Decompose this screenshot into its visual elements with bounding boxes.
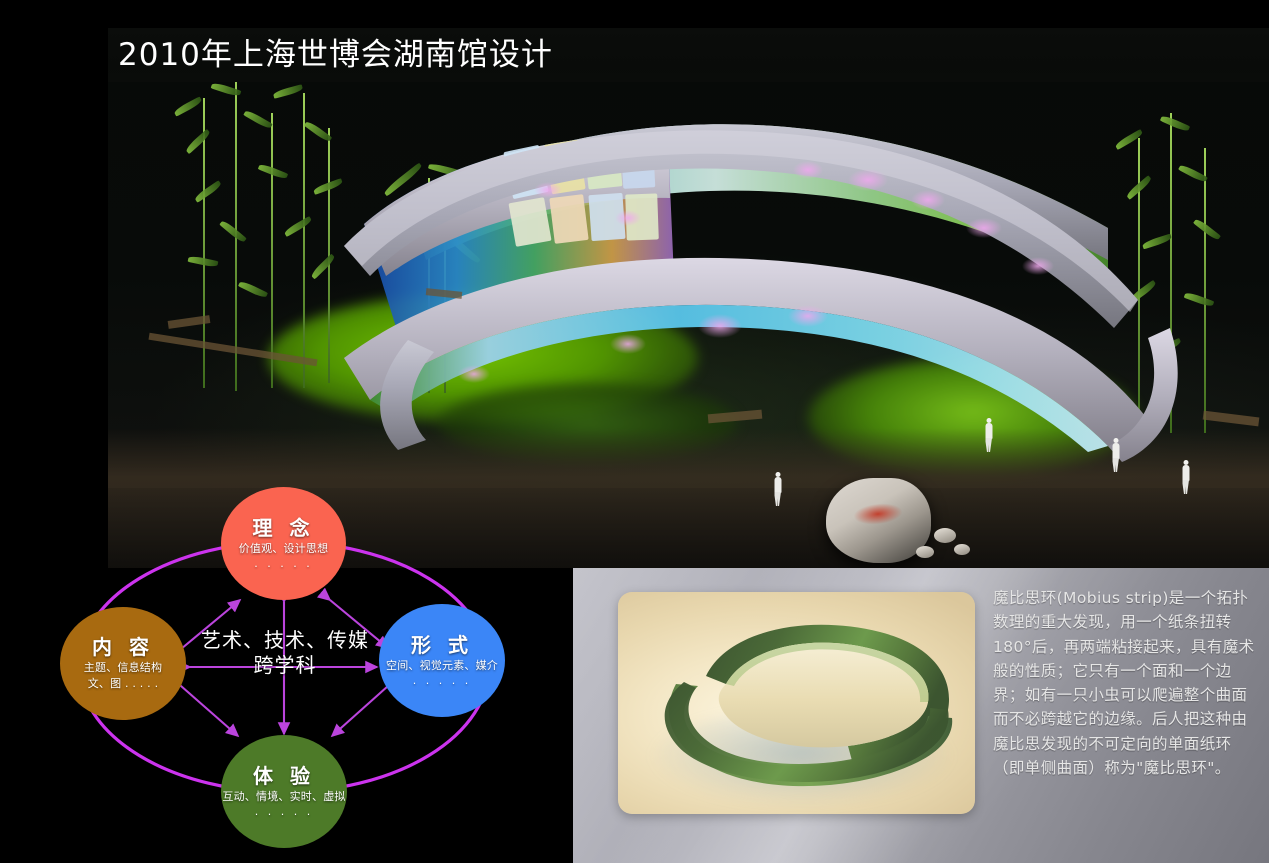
stone-red-calligraphy [853, 502, 903, 527]
node-dots: . . . . . [413, 674, 471, 687]
center-line-1: 艺术、技术、传媒 [188, 628, 382, 653]
node-subtitle-2: 文、图 . . . . . [88, 676, 159, 691]
person-silhouette-3 [1181, 460, 1190, 496]
node-dots: . . . . . [254, 557, 312, 570]
diagram-node-content[interactable]: 内 容 主题、信息结构 文、图 . . . . . [60, 607, 186, 720]
arrow-form-experience [332, 686, 388, 736]
node-subtitle: 价值观、设计思想 [239, 541, 329, 556]
slide-canvas: 2010年上海世博会湖南馆设计 [0, 0, 1269, 863]
slide-title-bar: 2010年上海世博会湖南馆设计 [108, 28, 1269, 82]
node-dots: . . . . . [255, 805, 313, 818]
person-silhouette-2 [1111, 438, 1120, 474]
diagram-node-concept[interactable]: 理 念 价值观、设计思想 . . . . . [221, 487, 346, 600]
node-subtitle: 主题、信息结构 [84, 660, 162, 675]
pebble-2 [916, 546, 934, 558]
node-subtitle: 互动、情境、实时、虚拟 [222, 789, 345, 804]
pebble-1 [934, 528, 956, 543]
concept-relationship-diagram: 理 念 价值观、设计思想 . . . . . 内 容 主题、信息结构 文、图 .… [38, 478, 538, 863]
arrow-content-experience [181, 686, 238, 736]
node-title: 形 式 [411, 634, 473, 657]
person-silhouette-1 [984, 418, 993, 454]
diagram-center-label: 艺术、技术、传媒 跨学科 [188, 628, 382, 678]
mobius-info-panel: 魔比思环(Mobius strip)是一个拓扑数理的重大发现，用一个纸条扭转18… [573, 568, 1269, 863]
mobius-strip-photo [618, 592, 975, 814]
node-title: 体 验 [253, 765, 315, 788]
page-title: 2010年上海世博会湖南馆设计 [118, 30, 553, 80]
node-title: 理 念 [253, 517, 315, 540]
mobius-strip-shape [618, 592, 975, 814]
mobius-description-text: 魔比思环(Mobius strip)是一个拓扑数理的重大发现，用一个纸条扭转18… [993, 586, 1255, 780]
node-subtitle: 空间、视觉元素、媒介 [386, 658, 498, 673]
diagram-node-form[interactable]: 形 式 空间、视觉元素、媒介 . . . . . [379, 604, 505, 717]
person-silhouette-4 [773, 472, 782, 506]
diagram-node-experience[interactable]: 体 验 互动、情境、实时、虚拟 . . . . . [221, 735, 347, 848]
pebble-3 [954, 544, 970, 555]
center-line-2: 跨学科 [188, 653, 382, 678]
node-title: 内 容 [92, 636, 154, 659]
